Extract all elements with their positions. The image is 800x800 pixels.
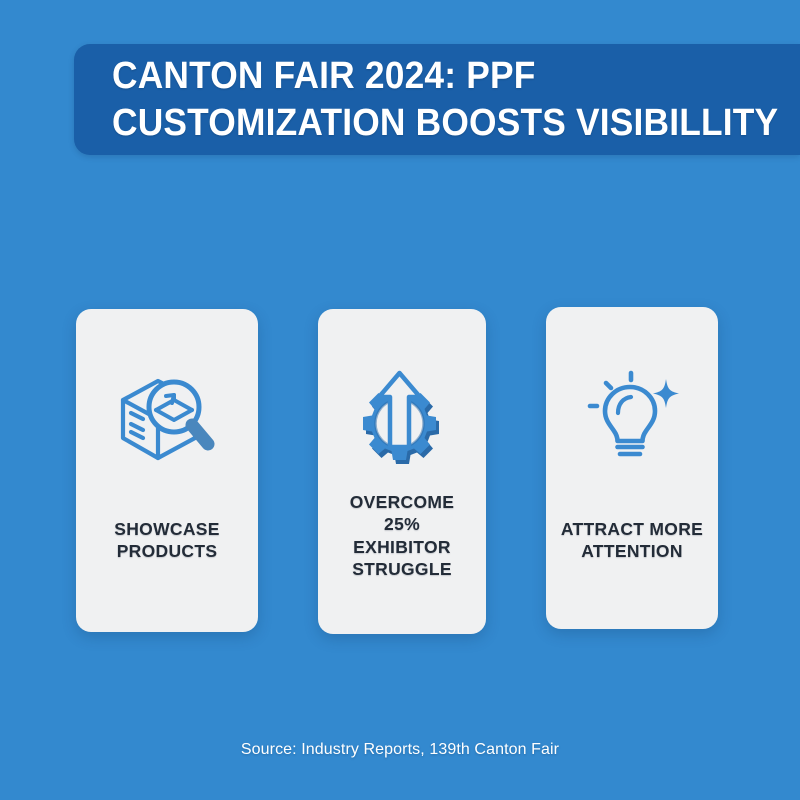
card-label-overcome-exhibitor-struggle: Overcome 25% Exhibitor Struggle [326, 491, 478, 581]
gear-up-arrow-icon [318, 367, 486, 471]
card-label-showcase-products: Showcase Products [84, 518, 250, 563]
card-label-line: Showcase [84, 518, 250, 540]
header-title-line-2: Customization Boosts Visibillity [112, 100, 752, 146]
card-label-line: 25% [326, 513, 478, 535]
package-magnifier-icon [76, 367, 258, 471]
header-title-line-1: Canton Fair 2024: PPF [112, 53, 752, 99]
card-overcome-exhibitor-struggle[interactable]: Overcome 25% Exhibitor Struggle [318, 309, 486, 634]
card-showcase-products[interactable]: Showcase Products [76, 309, 258, 632]
lightbulb-sparkle-icon [546, 363, 718, 467]
card-label-line: Struggle [326, 558, 478, 580]
card-attract-more-attention[interactable]: Attract More Attention [546, 307, 718, 629]
infographic-canvas: Canton Fair 2024: PPF Customization Boos… [0, 0, 800, 800]
card-label-line: Exhibitor [326, 536, 478, 558]
card-label-line: Attract More [554, 518, 710, 540]
card-label-line: Attention [554, 540, 710, 562]
card-label-line: Overcome [326, 491, 478, 513]
footer-source-text: Source: Industry Reports, 139th Canton F… [0, 741, 800, 759]
card-label-line: Products [84, 540, 250, 562]
card-label-attract-more-attention: Attract More Attention [554, 518, 710, 563]
header-banner: Canton Fair 2024: PPF Customization Boos… [74, 44, 800, 155]
